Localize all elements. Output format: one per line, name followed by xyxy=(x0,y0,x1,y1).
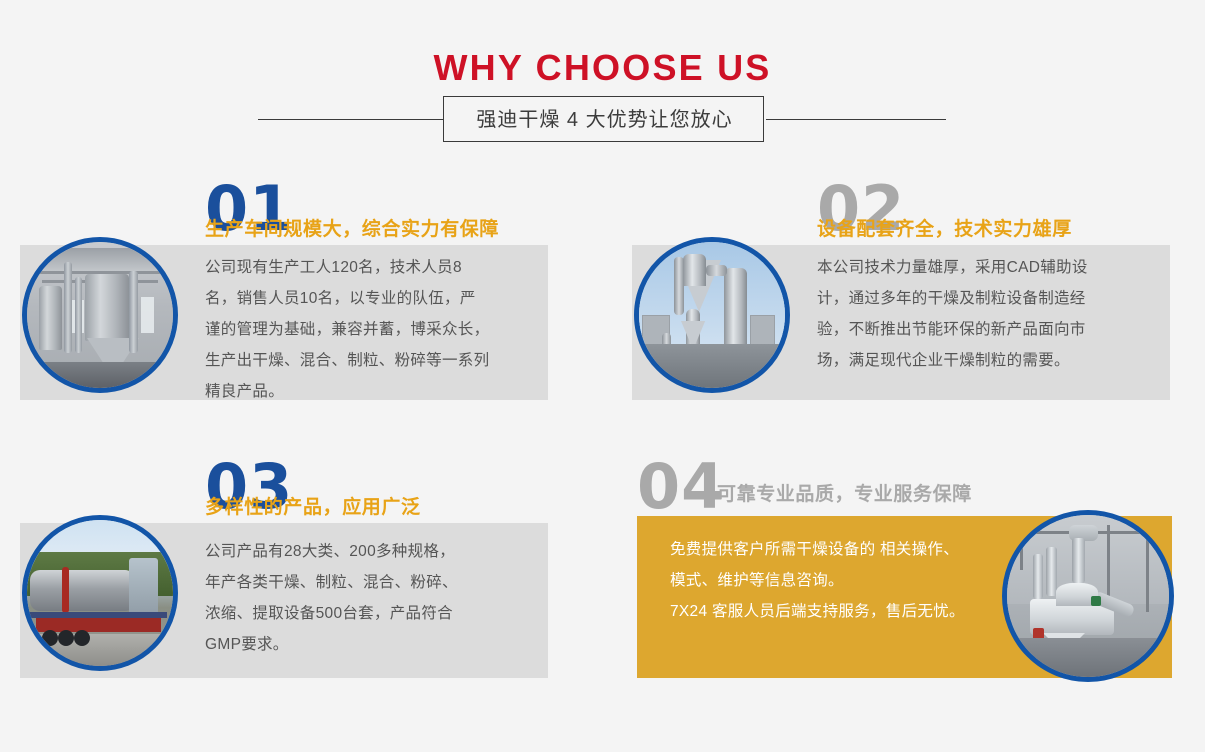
card-04-line-1: 免费提供客户所需干燥设备的 相关操作、 xyxy=(670,534,1030,565)
page-subtitle: 强迪干燥 4 大优势让您放心 xyxy=(444,97,765,143)
card-03-photo xyxy=(22,515,178,671)
card-04-title: 可靠专业品质，专业服务保障 xyxy=(717,484,972,506)
subtitle-box: 强迪干燥 4 大优势让您放心 xyxy=(443,96,764,142)
feature-card-02: 02 设备配套齐全，技术实力雄厚 本公司技术力量雄厚，采用CAD辅助设 计，通过… xyxy=(612,170,1172,415)
card-03-body: 公司产品有28大类、200多种规格， 年产各类干燥、制粒、混合、粉碎、 浓缩、提… xyxy=(205,536,535,660)
card-01-line-2: 名，销售人员10名，以专业的队伍，严 xyxy=(205,283,535,314)
card-04-number: 04 xyxy=(637,456,725,518)
card-01-line-4: 生产出干燥、混合、制粒、粉碎等一系列 xyxy=(205,345,535,376)
card-01-line-1: 公司现有生产工人120名，技术人员8 xyxy=(205,252,535,283)
spray-dryer-workshop-photo xyxy=(27,242,173,388)
feature-card-04: 04 可靠专业品质，专业服务保障 免费提供客户所需干燥设备的 相关操作、 模式、… xyxy=(612,448,1172,688)
card-01-line-5: 精良产品。 xyxy=(205,376,535,407)
why-choose-us-page: WHY CHOOSE US 强迪干燥 4 大优势让您放心 01 生产车间规模大，… xyxy=(0,0,1205,752)
card-02-line-4: 场，满足现代企业干燥制粒的需要。 xyxy=(817,345,1162,376)
card-03-line-2: 年产各类干燥、制粒、混合、粉碎、 xyxy=(205,567,535,598)
outdoor-spray-dryer-photo xyxy=(639,242,785,388)
card-03-line-3: 浓缩、提取设备500台套，产品符合 xyxy=(205,598,535,629)
card-03-line-1: 公司产品有28大类、200多种规格， xyxy=(205,536,535,567)
card-03-line-4: GMP要求。 xyxy=(205,629,535,660)
feature-card-03: 03 多样性的产品，应用广泛 公司产品有28大类、200多种规格， 年产各类干燥… xyxy=(0,448,560,688)
card-02-line-3: 验，不断推出节能环保的新产品面向市 xyxy=(817,314,1162,345)
header-rule-right xyxy=(766,119,946,120)
card-02-body: 本公司技术力量雄厚，采用CAD辅助设 计，通过多年的干燥及制粒设备制造经 验，不… xyxy=(817,252,1162,376)
card-02-line-2: 计，通过多年的干燥及制粒设备制造经 xyxy=(817,283,1162,314)
card-01-photo xyxy=(22,237,178,393)
card-04-body: 免费提供客户所需干燥设备的 相关操作、 模式、维护等信息咨询。 7X24 客服人… xyxy=(670,534,1030,627)
card-04-line-2: 模式、维护等信息咨询。 xyxy=(670,565,1030,596)
card-02-line-1: 本公司技术力量雄厚，采用CAD辅助设 xyxy=(817,252,1162,283)
card-03-title: 多样性的产品，应用广泛 xyxy=(205,497,421,519)
header-rule-left xyxy=(258,119,444,120)
card-01-title: 生产车间规模大，综合实力有保障 xyxy=(205,219,499,241)
card-02-title: 设备配套齐全，技术实力雄厚 xyxy=(817,219,1072,241)
card-04-line-3: 7X24 客服人员后端支持服务，售后无忧。 xyxy=(670,596,1030,627)
section-header: WHY CHOOSE US 强迪干燥 4 大优势让您放心 xyxy=(0,0,1205,160)
card-04-photo xyxy=(1002,510,1174,682)
page-title: WHY CHOOSE US xyxy=(0,47,1205,89)
card-01-line-3: 谨的管理为基础，兼容并蓄，博采众长， xyxy=(205,314,535,345)
card-02-photo xyxy=(634,237,790,393)
card-01-body: 公司现有生产工人120名，技术人员8 名，销售人员10名，以专业的队伍，严 谨的… xyxy=(205,252,535,407)
feature-card-01: 01 生产车间规模大，综合实力有保障 公司现有生产工人120名，技术人员8 名，… xyxy=(0,170,560,415)
rotary-dryer-shipping-photo xyxy=(27,520,173,666)
fluid-bed-dryer-plant-photo xyxy=(1007,515,1169,677)
